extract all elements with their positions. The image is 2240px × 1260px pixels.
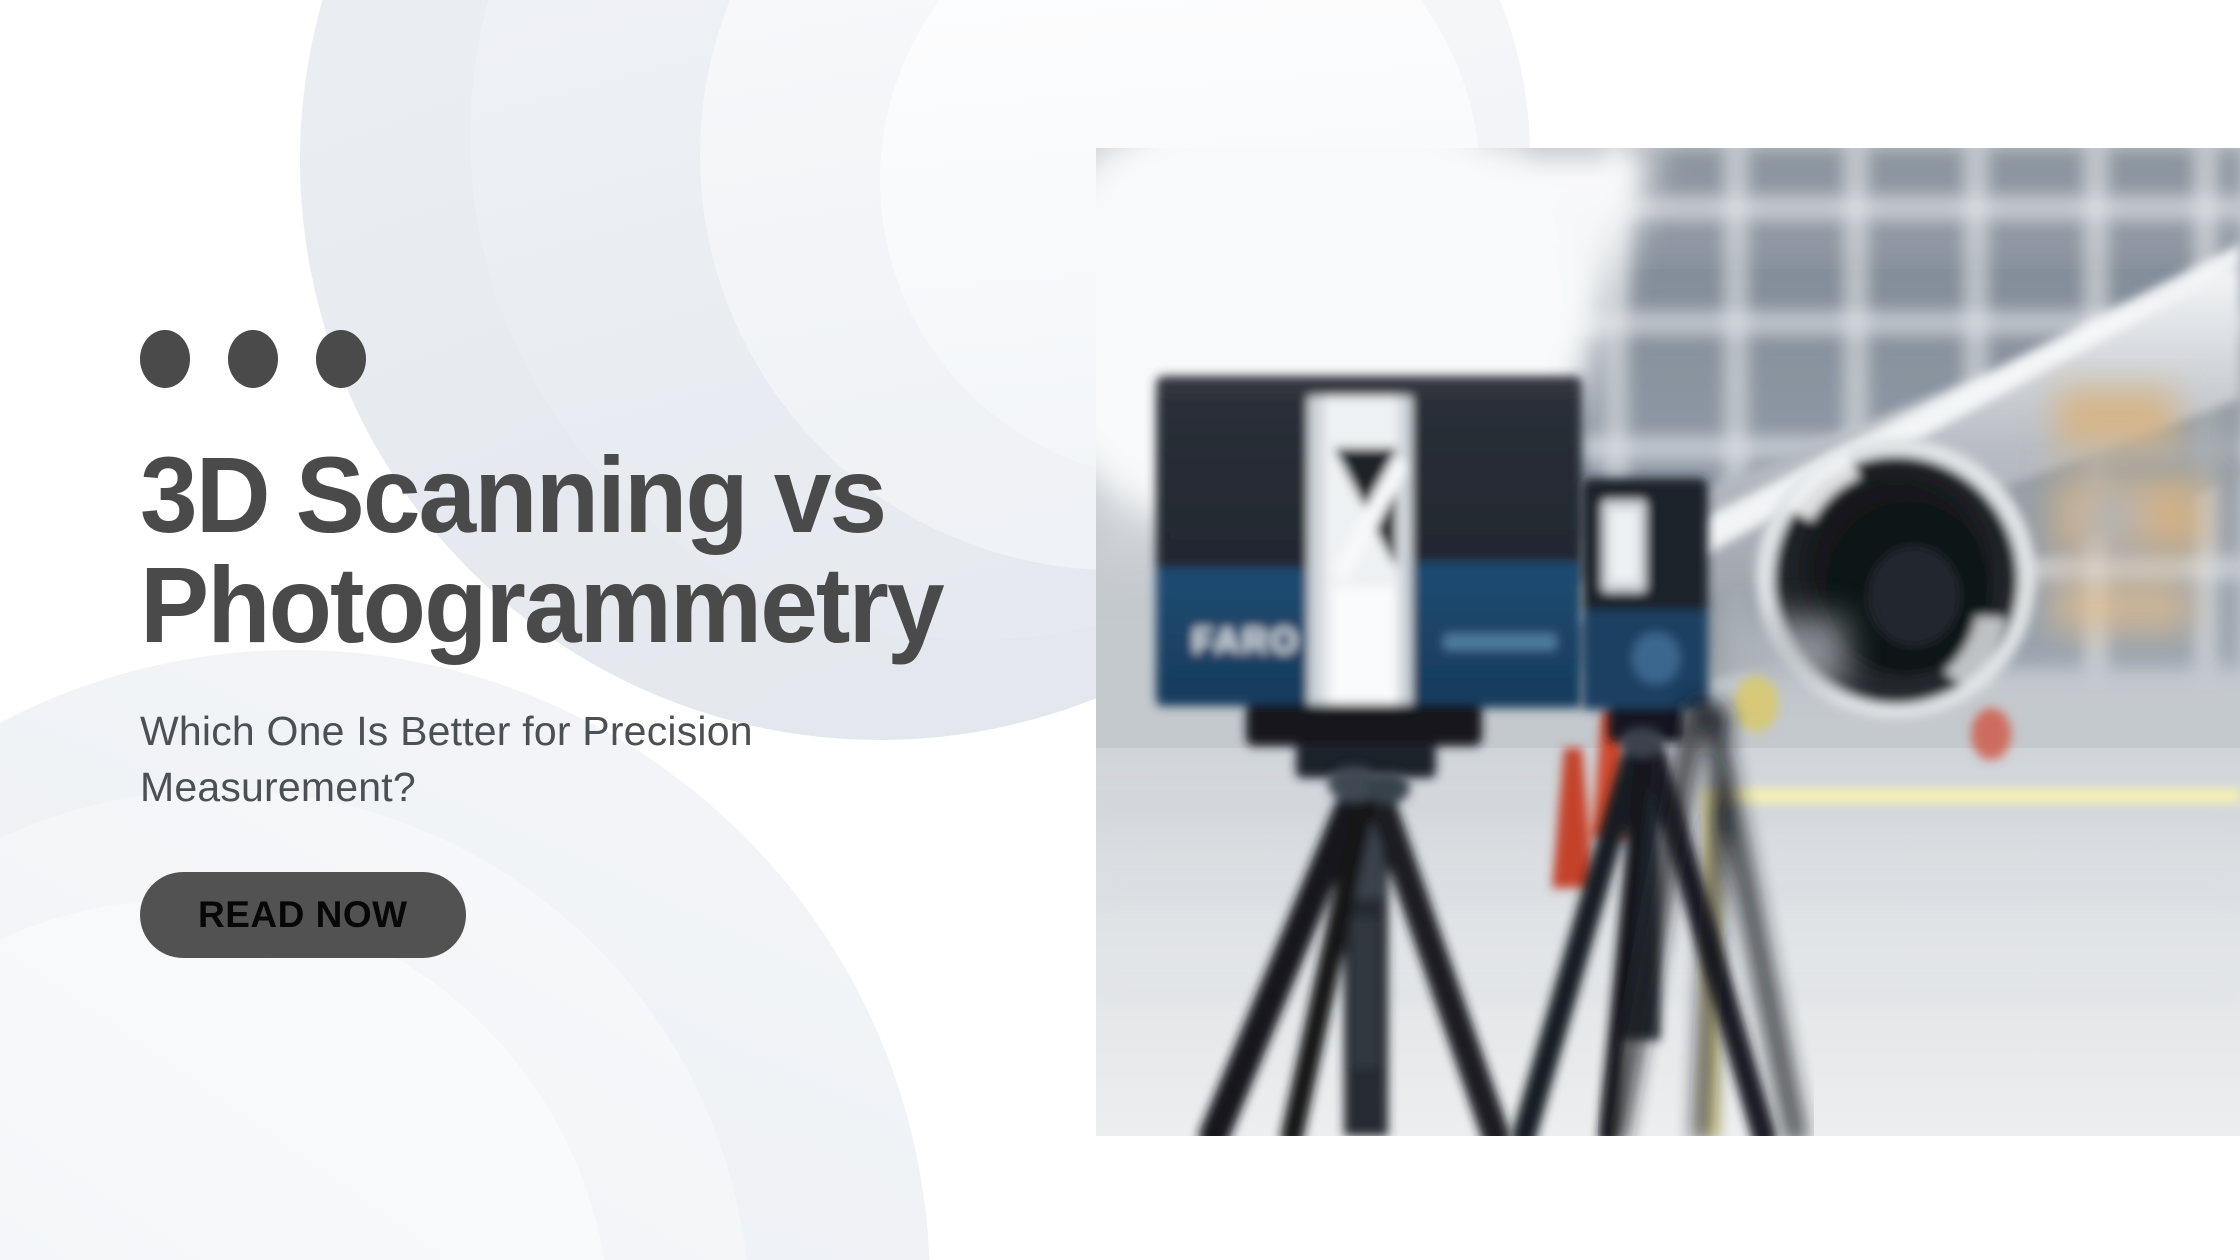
- page-subtitle: Which One Is Better for Precision Measur…: [140, 704, 1100, 816]
- page-title: 3D Scanning vs Photogrammetry: [140, 440, 1062, 660]
- hangar-scanner-illustration: FARO: [1096, 148, 2240, 1136]
- three-dots-icon: [140, 330, 1100, 388]
- svg-text:FARO: FARO: [1192, 620, 1300, 661]
- dot-3-icon: [316, 330, 366, 388]
- dot-2-icon: [228, 330, 278, 388]
- dot-1-icon: [140, 330, 190, 388]
- promo-banner: 3D Scanning vs Photogrammetry Which One …: [0, 0, 2240, 1260]
- hero-photo: FARO: [1096, 148, 2240, 1136]
- banner-content: 3D Scanning vs Photogrammetry Which One …: [140, 330, 1100, 958]
- read-now-button[interactable]: READ NOW: [140, 872, 466, 958]
